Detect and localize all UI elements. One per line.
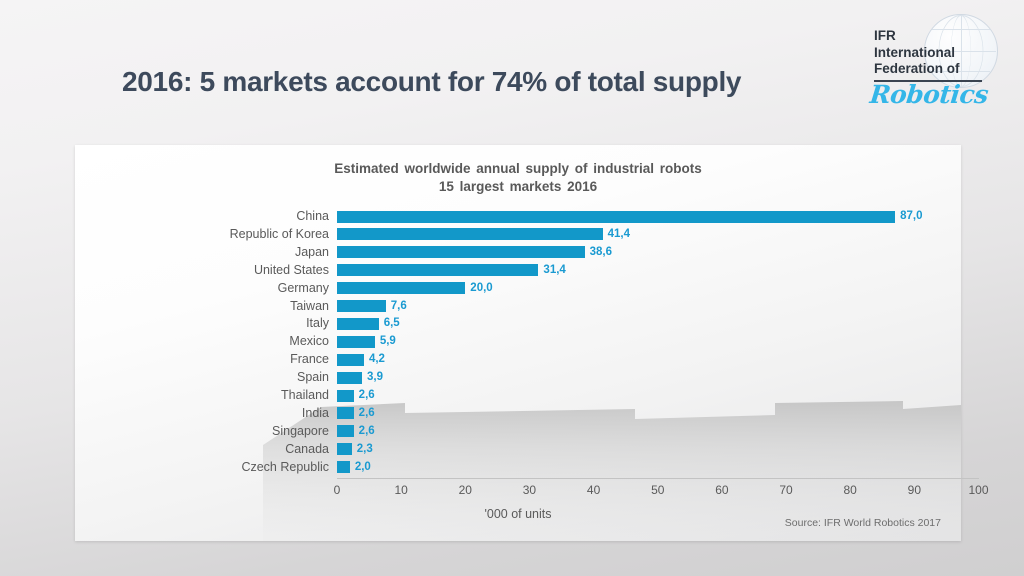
bar-value-label: 2,3 (357, 441, 373, 458)
bar-row: United States31,4 (75, 262, 961, 279)
bar-category-label: Spain (129, 369, 329, 386)
bar (337, 354, 364, 366)
bar-category-label: Taiwan (129, 298, 329, 315)
logo-script-robotics: Robotics (868, 80, 1005, 109)
chart-card: Estimated worldwide annual supply of ind… (75, 145, 961, 541)
bar-value-label: 31,4 (543, 262, 565, 279)
x-axis-tick-label: 10 (381, 482, 421, 498)
bar (337, 211, 895, 223)
bar (337, 425, 354, 437)
bar-row: Republic of Korea41,4 (75, 226, 961, 243)
logo-line-ifr: IFR (868, 28, 1004, 45)
bar-row: Canada2,3 (75, 441, 961, 458)
bar-value-label: 4,2 (369, 351, 385, 368)
bar (337, 390, 354, 402)
bar-category-label: Czech Republic (129, 459, 329, 476)
logo-line-federation: Federation of (868, 61, 1004, 78)
bar-category-label: United States (129, 262, 329, 279)
bar-value-label: 20,0 (470, 280, 492, 297)
source-note: Source: IFR World Robotics 2017 (785, 517, 941, 529)
bar-value-label: 2,6 (359, 405, 375, 422)
x-axis-tick-label: 0 (317, 482, 357, 498)
x-axis-tick-label: 60 (702, 482, 742, 498)
bar-value-label: 41,4 (608, 226, 630, 243)
x-axis-tick-label: 20 (445, 482, 485, 498)
bar-value-label: 7,6 (391, 298, 407, 315)
bar-value-label: 38,6 (590, 244, 612, 261)
bar (337, 443, 352, 455)
ifr-logo: IFR International Federation of Robotics (868, 14, 1004, 106)
bar-value-label: 6,5 (384, 315, 400, 332)
bar-category-label: Republic of Korea (129, 226, 329, 243)
bar-chart-plot: China87,0Republic of Korea41,4Japan38,6U… (75, 145, 961, 541)
bar-row: Mexico5,9 (75, 333, 961, 350)
bar (337, 461, 350, 473)
bar-category-label: Italy (129, 315, 329, 332)
bar (337, 246, 585, 258)
bar-row: China87,0 (75, 208, 961, 225)
bar-row: Spain3,9 (75, 369, 961, 386)
bar-row: Czech Republic2,0 (75, 459, 961, 476)
bar (337, 282, 465, 294)
bar-value-label: 2,6 (359, 423, 375, 440)
bar-category-label: Japan (129, 244, 329, 261)
bar (337, 336, 375, 348)
bar-value-label: 2,6 (359, 387, 375, 404)
bar (337, 300, 386, 312)
bar (337, 318, 379, 330)
x-axis-tick-label: 90 (894, 482, 934, 498)
bar (337, 228, 603, 240)
bar-category-label: China (129, 208, 329, 225)
bar-row: Japan38,6 (75, 244, 961, 261)
bar (337, 264, 538, 276)
bar-row: Taiwan7,6 (75, 298, 961, 315)
x-axis-tick-label: 40 (574, 482, 614, 498)
bar-row: France4,2 (75, 351, 961, 368)
bar (337, 372, 362, 384)
logo-text-block: IFR International Federation of (868, 28, 1004, 78)
bar-row: Italy6,5 (75, 315, 961, 332)
bar-category-label: Singapore (129, 423, 329, 440)
logo-line-international: International (868, 45, 1004, 62)
bar-row: Germany20,0 (75, 280, 961, 297)
x-axis-tick-label: 100 (959, 482, 999, 498)
bar-category-label: Canada (129, 441, 329, 458)
x-axis-tick-label: 80 (830, 482, 870, 498)
bar-category-label: Germany (129, 280, 329, 297)
bar-value-label: 87,0 (900, 208, 922, 225)
x-axis-tick-label: 30 (509, 482, 549, 498)
bar-value-label: 5,9 (380, 333, 396, 350)
bar-row: Thailand2,6 (75, 387, 961, 404)
bar-category-label: India (129, 405, 329, 422)
bar-value-label: 3,9 (367, 369, 383, 386)
x-axis-tick-label: 70 (766, 482, 806, 498)
x-axis-line (337, 478, 979, 479)
x-axis-tick-label: 50 (638, 482, 678, 498)
bar-category-label: France (129, 351, 329, 368)
bar-category-label: Mexico (129, 333, 329, 350)
bar-row: Singapore2,6 (75, 423, 961, 440)
bar (337, 407, 354, 419)
bar-row: India2,6 (75, 405, 961, 422)
bar-value-label: 2,0 (355, 459, 371, 476)
bar-category-label: Thailand (129, 387, 329, 404)
page-title: 2016: 5 markets account for 74% of total… (122, 66, 741, 98)
